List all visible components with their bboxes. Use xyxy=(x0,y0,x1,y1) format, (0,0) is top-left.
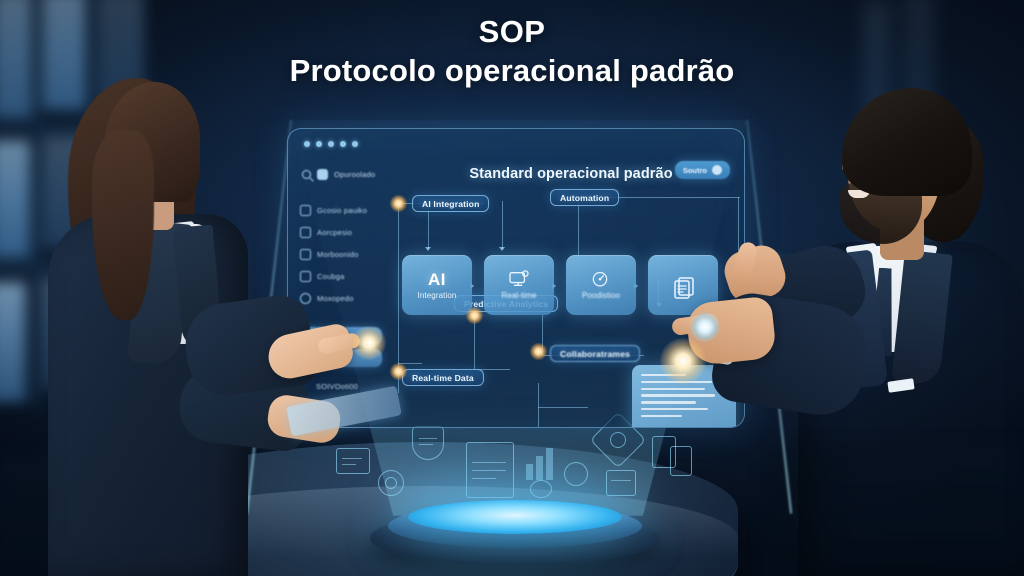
tag-automation[interactable]: Automation xyxy=(550,189,619,206)
title-line-1: SOP xyxy=(0,14,1024,50)
file-wire-icon-2 xyxy=(670,446,692,476)
sidebar-item-label: Coubga xyxy=(317,272,344,281)
connector-glow-node xyxy=(390,363,407,380)
calendar-wire-icon xyxy=(606,470,636,496)
search-label: Opuroolado xyxy=(334,170,375,179)
gauge-icon xyxy=(590,270,612,288)
sidebar-item-3[interactable]: Coubga xyxy=(300,265,392,287)
tag-label: Collaboratrames xyxy=(560,349,630,359)
documents-icon xyxy=(672,276,694,294)
title-block: SOP Protocolo operacional padrão xyxy=(0,14,1024,89)
base-glow-disc xyxy=(408,500,622,534)
window-dot xyxy=(304,141,310,147)
sidebar-item-1[interactable]: Aorcpesio xyxy=(300,221,392,243)
folder-wire-icon xyxy=(336,448,370,474)
connector-arrow xyxy=(499,247,505,251)
card-prediction[interactable]: Poodistioo xyxy=(566,255,636,315)
card-ai-integration[interactable]: AI Integration xyxy=(402,255,472,315)
connector xyxy=(538,383,539,428)
card-real-time[interactable]: Real-time xyxy=(484,255,554,315)
window-dot xyxy=(352,141,358,147)
panel-action-label: Soutro xyxy=(683,166,707,175)
tag-collaboration[interactable]: Collaboratrames xyxy=(550,345,640,362)
connector xyxy=(578,201,579,257)
connector xyxy=(502,201,503,249)
tag-ai-integration[interactable]: AI Integration xyxy=(412,195,489,212)
search-icon xyxy=(302,170,311,179)
touch-spark-left xyxy=(352,326,386,360)
tag-label: AI Integration xyxy=(422,199,479,209)
touch-spark-right xyxy=(660,338,706,384)
connector xyxy=(538,407,588,408)
grid-icon xyxy=(300,227,311,238)
document-icon xyxy=(300,205,311,216)
tag-label: Real-time Data xyxy=(412,373,474,383)
gear-wire-inner xyxy=(385,477,397,489)
sidebar-item-label: Gcosio pauiko xyxy=(317,206,367,215)
sidebar-item-0[interactable]: Gcosio pauiko xyxy=(300,199,392,221)
sidebar-item-2[interactable]: Morboonido xyxy=(300,243,392,265)
connector-glow-node xyxy=(530,343,547,360)
window-dot xyxy=(340,141,346,147)
panel-action-button[interactable]: Soutro xyxy=(675,161,730,179)
avatar xyxy=(317,169,328,180)
sidebar-item-label: Morboonido xyxy=(317,250,359,259)
connector-glow-node xyxy=(390,195,407,212)
window-dot xyxy=(328,141,334,147)
window-dot xyxy=(316,141,322,147)
flow-diagram: AI Integration Automation Predictive Ana… xyxy=(392,187,745,428)
title-line-2: Protocolo operacional padrão xyxy=(0,52,1024,89)
chart-icon xyxy=(300,249,311,260)
tag-real-time-data[interactable]: Real-time Data xyxy=(402,369,484,386)
panel-search-area[interactable]: Opuroolado xyxy=(288,169,416,180)
upload-icon xyxy=(300,271,311,282)
sidebar-item-4[interactable]: Moxopedo xyxy=(300,287,392,309)
sidebar-item-label: Moxopedo xyxy=(317,294,354,303)
card-title: AI xyxy=(428,271,446,288)
clock-icon xyxy=(300,293,311,304)
card-caption: Integration xyxy=(418,291,457,300)
shield-wire-icon xyxy=(412,426,444,460)
tag-label: Automation xyxy=(560,193,609,203)
window-dots xyxy=(304,141,358,147)
monitor-icon xyxy=(508,270,530,288)
sidebar-subitem-label: SOIVOoti00 xyxy=(300,382,358,391)
badge-wire-inner xyxy=(610,432,626,448)
checkmark-wire-icon xyxy=(564,462,588,486)
connector-glow-node xyxy=(466,307,483,324)
globe-icon xyxy=(712,165,722,175)
hologram-projector-base xyxy=(370,496,660,574)
touch-spark-panel xyxy=(690,312,720,342)
connector-arrow xyxy=(425,247,431,251)
screenshot-root: Opuroolado Standard operacional padrão S… xyxy=(0,0,1024,576)
sidebar-item-label: Aorcpesio xyxy=(317,228,352,237)
card-caption: Real-time xyxy=(501,291,536,300)
card-caption: Poodistioo xyxy=(582,291,620,300)
